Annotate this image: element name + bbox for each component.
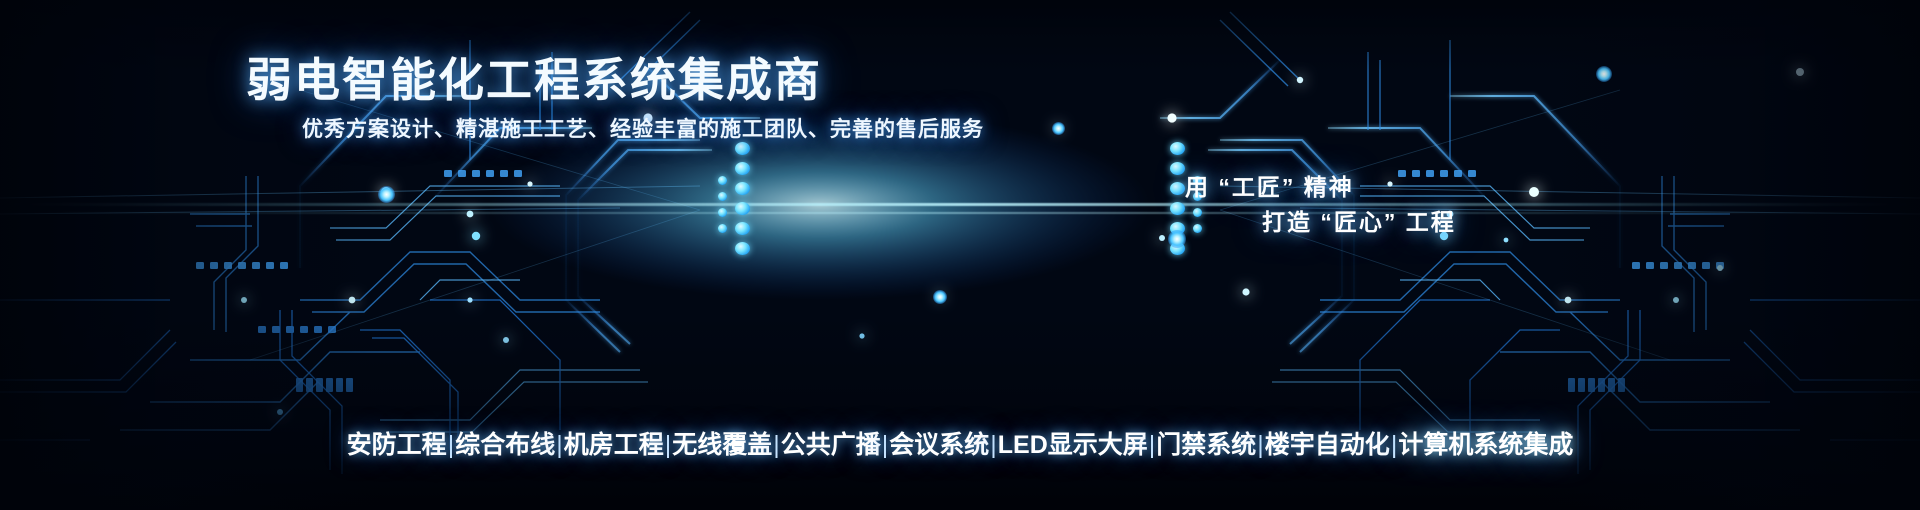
center-light-beam [0, 203, 1920, 206]
service-separator: | [882, 431, 889, 459]
service-item[interactable]: 楼宇自动化 [1265, 431, 1390, 459]
service-separator: | [1149, 431, 1156, 459]
page-title: 弱电智能化工程系统集成商 [246, 44, 822, 110]
service-separator: | [448, 431, 455, 459]
service-list: 安防工程|综合布线|机房工程|无线覆盖|公共广播|会议系统|LED显示大屏|门禁… [0, 425, 1920, 461]
service-item[interactable]: 公共广播 [781, 431, 881, 459]
glow-node-accent-4 [1052, 122, 1065, 135]
subtitle-text: 优秀方案设计、精湛施工工艺、经验丰富的施工团队、完善的售后服务 [302, 113, 984, 143]
service-item[interactable]: LED显示大屏 [998, 431, 1148, 459]
service-separator: | [665, 431, 672, 459]
service-item[interactable]: 计算机系统集成 [1398, 431, 1573, 459]
service-separator: | [1257, 431, 1264, 459]
center-light-beam-secondary [0, 212, 1920, 214]
service-item[interactable]: 门禁系统 [1156, 431, 1256, 459]
service-separator: | [990, 431, 997, 459]
hero-banner: 弱电智能化工程系统集成商 优秀方案设计、精湛施工工艺、经验丰富的施工团队、完善的… [0, 0, 1920, 510]
service-item[interactable]: 综合布线 [455, 431, 555, 459]
glow-node-accent-3 [933, 290, 947, 304]
service-item[interactable]: 机房工程 [564, 431, 664, 459]
service-separator: | [556, 431, 563, 459]
dot-column-left-large [735, 142, 750, 255]
glow-node-accent-2 [1596, 66, 1612, 82]
slogan-line-1: 用 “工匠” 精神 [1185, 168, 1354, 202]
service-item[interactable]: 会议系统 [889, 431, 989, 459]
service-separator: | [1391, 431, 1398, 459]
slogan-line-2: 打造 “匠心” 工程 [1262, 203, 1456, 237]
dot-column-left-small [718, 176, 727, 233]
service-item[interactable]: 无线覆盖 [672, 431, 772, 459]
glow-node-accent-5 [378, 186, 395, 203]
glow-node-accent-1 [1168, 230, 1186, 248]
service-separator: | [773, 431, 780, 459]
service-item[interactable]: 安防工程 [347, 431, 447, 459]
